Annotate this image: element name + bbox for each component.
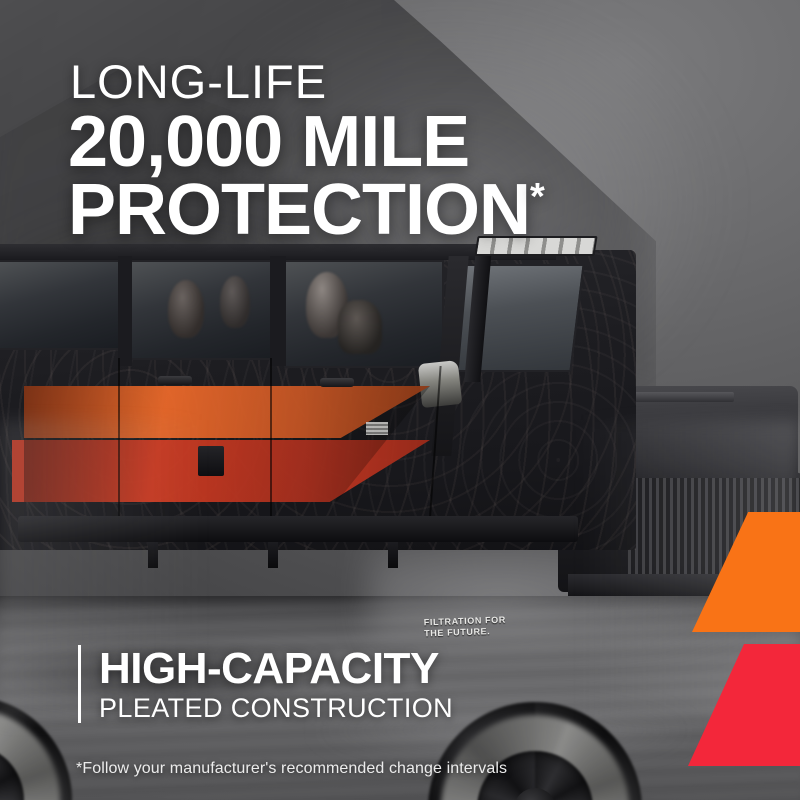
offroad-suv: FILTRATION FOR THE FUTURE. K& N. — [0, 226, 800, 646]
headline-line-2: PROTECTION — [68, 170, 530, 250]
rear-quarter-window — [0, 260, 122, 350]
door-seam-front — [270, 358, 272, 524]
rock-rail — [18, 516, 578, 542]
door-handle-front — [320, 378, 354, 387]
flag-decal — [366, 422, 388, 435]
driver-torso — [338, 300, 382, 354]
rear-passenger-second — [220, 276, 250, 328]
eyebrow-text: LONG-LIFE — [70, 56, 327, 108]
b-pillar — [118, 256, 132, 366]
rock-rail-step-2 — [268, 542, 278, 568]
subhead-block: HIGH-CAPACITY PLEATED CONSTRUCTION — [78, 645, 453, 723]
rock-rail-step-3 — [388, 542, 398, 568]
hood-vent — [624, 392, 734, 402]
subhead-primary: HIGH-CAPACITY — [99, 645, 453, 693]
headline-line-2-wrap: PROTECTION* — [68, 176, 545, 244]
headline-asterisk: * — [530, 176, 545, 218]
vehicle-tagline: FILTRATION FOR THE FUTURE. — [424, 615, 507, 640]
vehicle-tagline-line2: THE FUTURE. — [424, 626, 490, 638]
headline: 20,000 MILE PROTECTION* — [68, 108, 545, 244]
door-seam-rear — [118, 358, 120, 518]
vehicle-tagline-line1: FILTRATION FOR — [424, 615, 506, 628]
c-pillar — [270, 256, 286, 366]
fuel-door — [198, 446, 224, 476]
footnote-text: *Follow your manufacturer's recommended … — [76, 760, 507, 778]
advertisement-canvas: FILTRATION FOR THE FUTURE. K& N. LONG-LI… — [0, 0, 800, 800]
door-handle-rear — [158, 376, 192, 385]
rock-rail-step-1 — [148, 542, 158, 568]
subhead-secondary: PLEATED CONSTRUCTION — [99, 693, 453, 723]
rear-passenger — [168, 280, 204, 338]
